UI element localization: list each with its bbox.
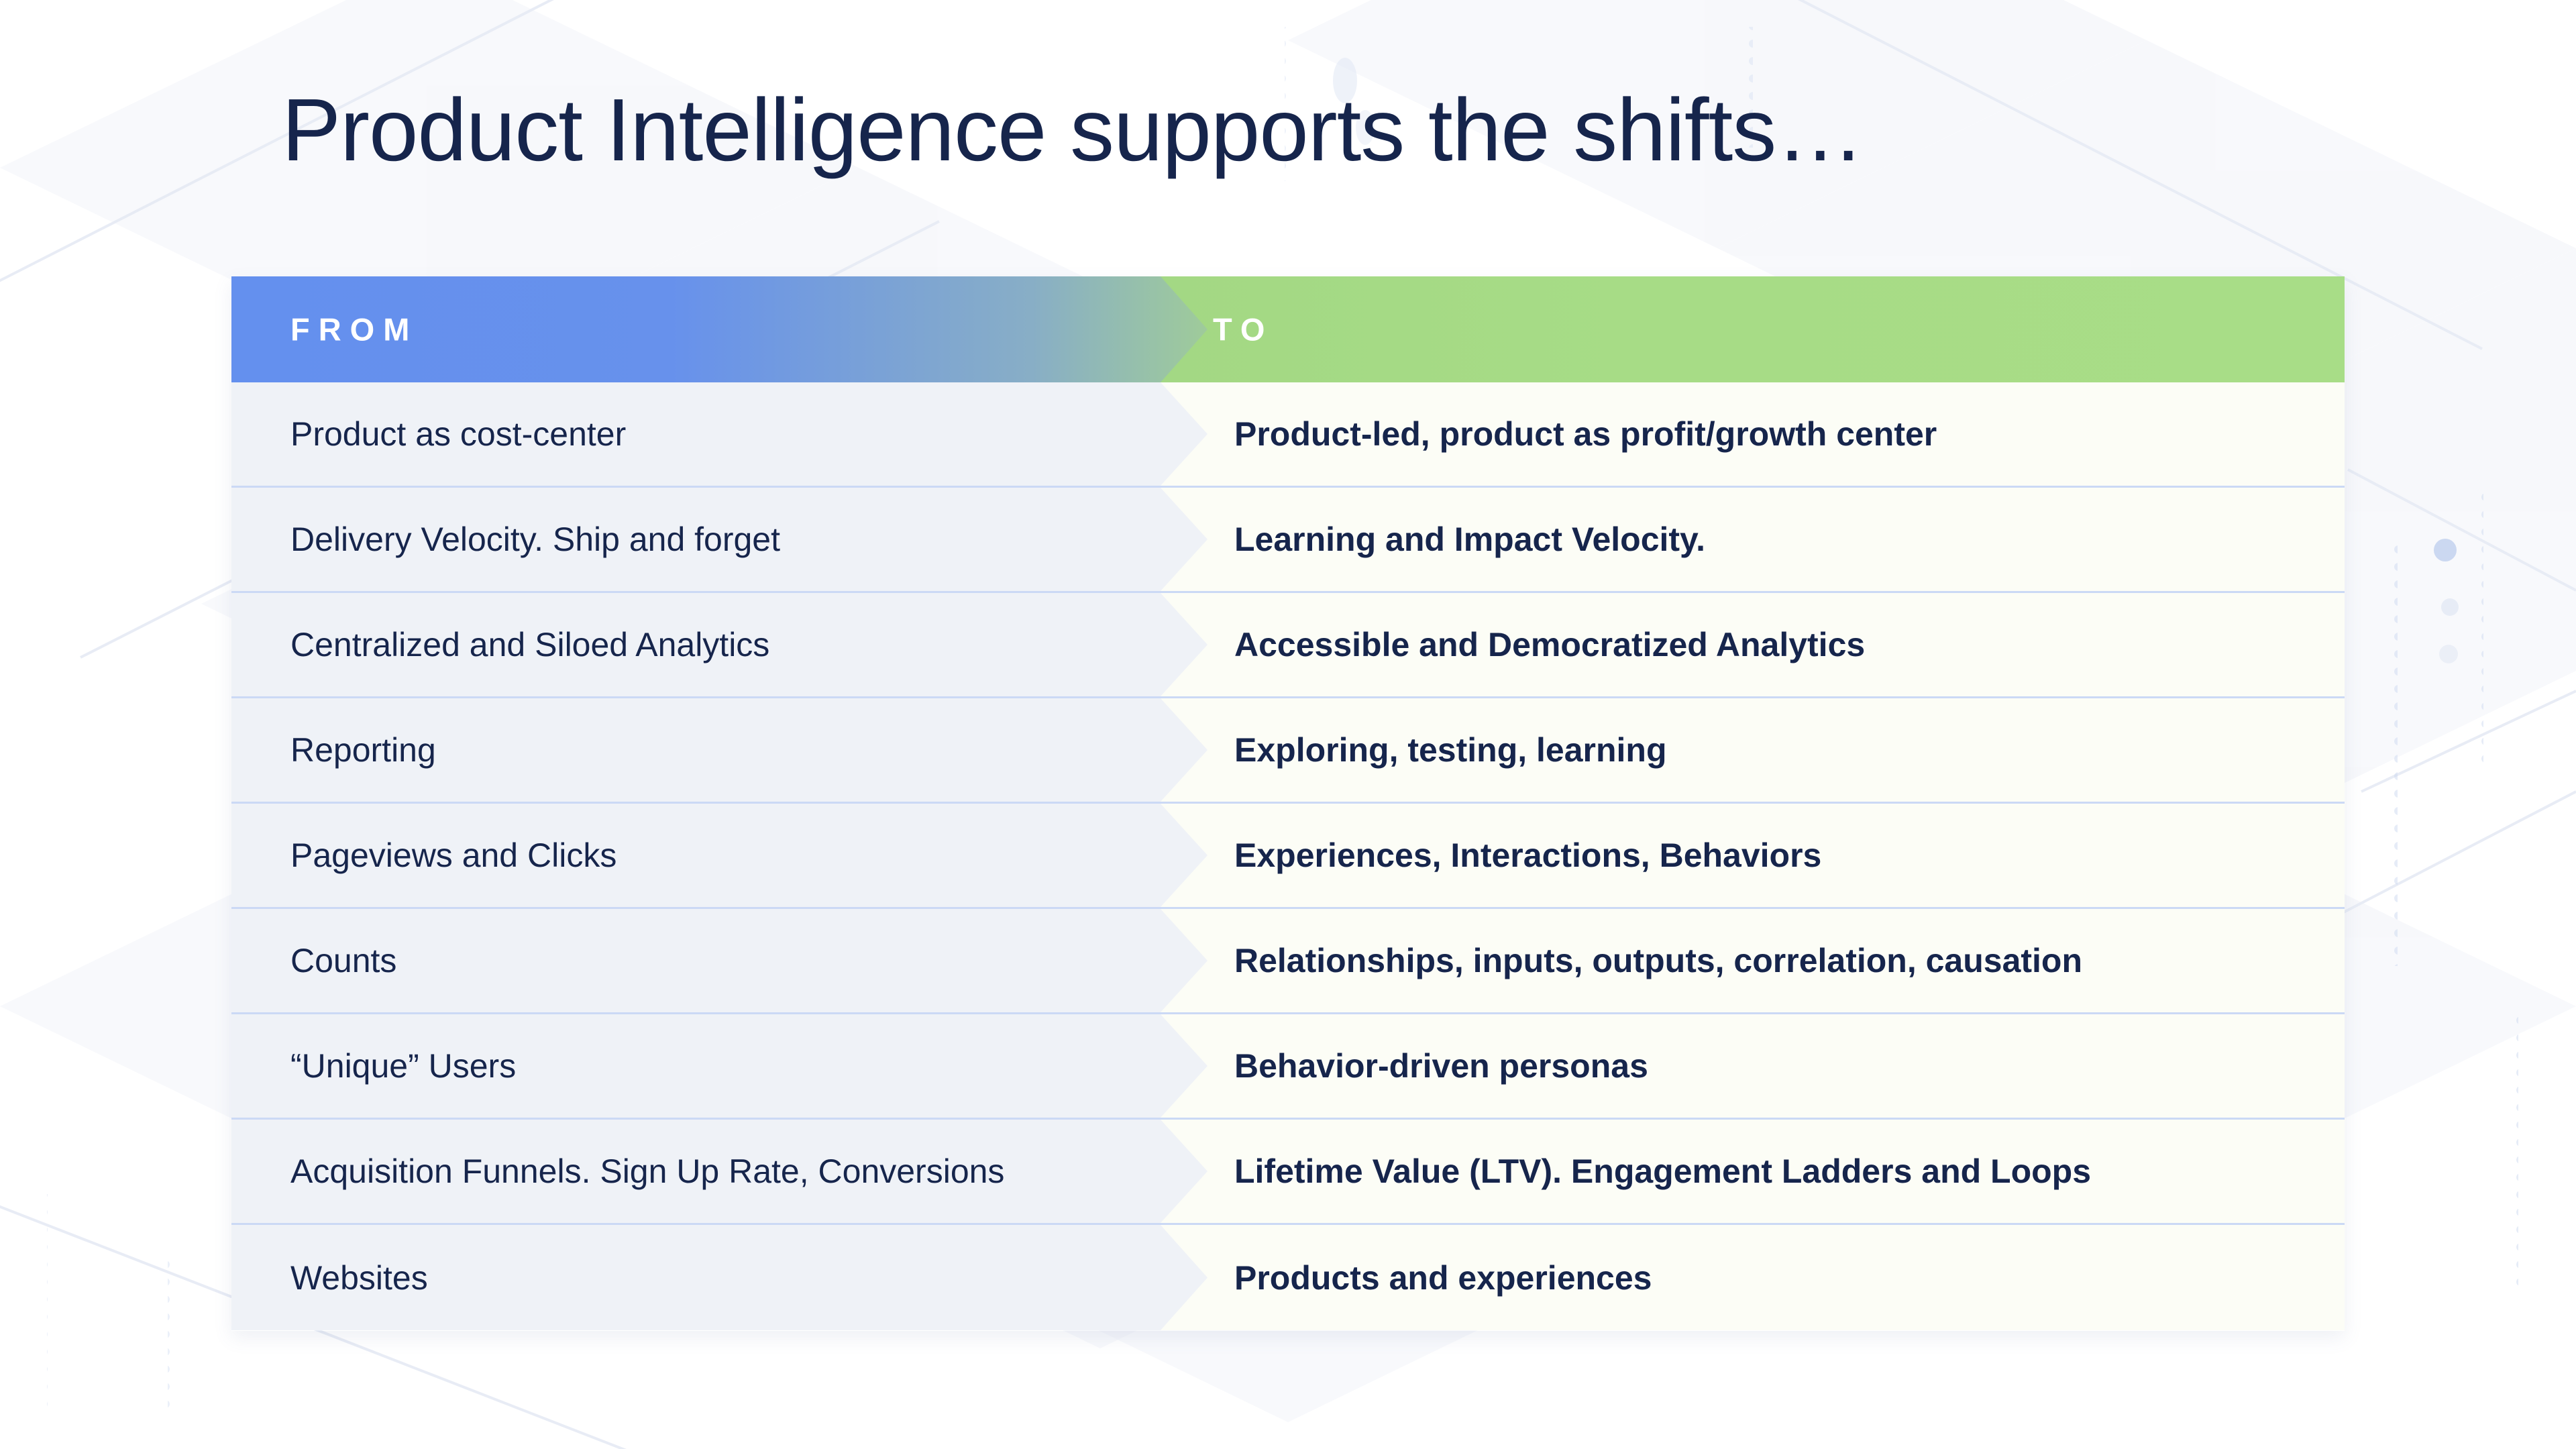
cell-to-text: Lifetime Value (LTV). Engagement Ladders… bbox=[1234, 1152, 2091, 1191]
cell-from-text: Counts bbox=[290, 941, 396, 980]
cell-to-text: Behavior-driven personas bbox=[1234, 1046, 1648, 1085]
cell-to-text: Products and experiences bbox=[1234, 1258, 1652, 1297]
cell-from-text: Websites bbox=[290, 1258, 428, 1297]
cell-from-text: “Unique” Users bbox=[290, 1046, 516, 1085]
cell-from-text: Delivery Velocity. Ship and forget bbox=[290, 520, 780, 559]
cell-from-text: Product as cost-center bbox=[290, 415, 626, 453]
table-row: Websites Products and experiences bbox=[231, 1225, 2345, 1330]
table-row: Counts Relationships, inputs, outputs, c… bbox=[231, 909, 2345, 1014]
cell-to-text: Product-led, product as profit/growth ce… bbox=[1234, 415, 1937, 453]
cell-from-text: Centralized and Siloed Analytics bbox=[290, 625, 769, 664]
cell-to-text: Experiences, Interactions, Behaviors bbox=[1234, 836, 1821, 875]
cell-to-text: Accessible and Democratized Analytics bbox=[1234, 625, 1865, 664]
table-row: Pageviews and Clicks Experiences, Intera… bbox=[231, 804, 2345, 909]
cell-from-text: Reporting bbox=[290, 731, 436, 769]
table-row: “Unique” Users Behavior-driven personas bbox=[231, 1014, 2345, 1120]
column-header-from: FROM bbox=[290, 311, 418, 348]
cell-from-text: Acquisition Funnels. Sign Up Rate, Conve… bbox=[290, 1152, 1004, 1191]
table-row: Centralized and Siloed Analytics Accessi… bbox=[231, 593, 2345, 698]
cell-from-text: Pageviews and Clicks bbox=[290, 836, 616, 875]
table-row: Product as cost-center Product-led, prod… bbox=[231, 382, 2345, 488]
table-header-row: FROM TO bbox=[231, 276, 2345, 382]
table-row: Delivery Velocity. Ship and forget Learn… bbox=[231, 488, 2345, 593]
table-body: Product as cost-center Product-led, prod… bbox=[231, 382, 2345, 1330]
cell-to-text: Exploring, testing, learning bbox=[1234, 731, 1667, 769]
from-to-comparison-table: FROM TO Product as cost-center Product-l… bbox=[231, 276, 2345, 1331]
cell-to-text: Relationships, inputs, outputs, correlat… bbox=[1234, 941, 2082, 980]
cell-to-text: Learning and Impact Velocity. bbox=[1234, 520, 1705, 559]
page-title: Product Intelligence supports the shifts… bbox=[282, 79, 1864, 181]
table-row: Acquisition Funnels. Sign Up Rate, Conve… bbox=[231, 1120, 2345, 1225]
table-row: Reporting Exploring, testing, learning bbox=[231, 698, 2345, 804]
header-to-banner bbox=[1161, 276, 2345, 382]
column-header-to: TO bbox=[1213, 311, 1273, 348]
